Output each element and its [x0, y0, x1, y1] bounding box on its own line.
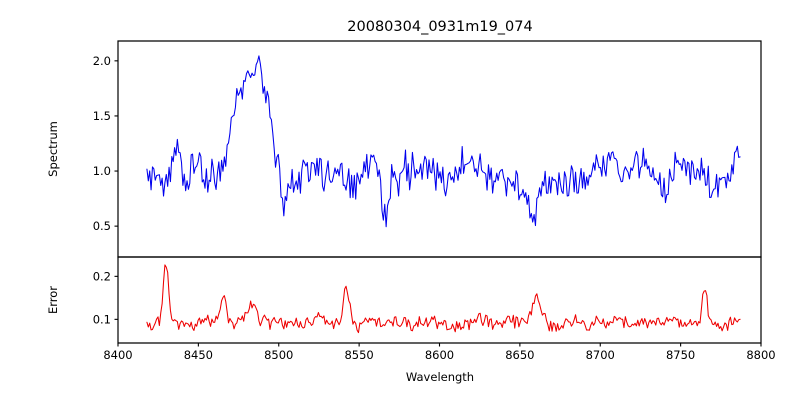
wavelength-tick-label: 8400 [103, 348, 132, 362]
wavelength-axis-label: Wavelength [406, 370, 474, 384]
spectrum-y-tick-label: 0.5 [93, 219, 111, 233]
spectrum-y-tick-label: 1.0 [93, 164, 111, 178]
wavelength-tick-label: 8600 [425, 348, 454, 362]
error-axis-label: Error [46, 286, 60, 314]
figure-background [0, 0, 800, 400]
wavelength-tick-label: 8550 [344, 348, 373, 362]
wavelength-tick-label: 8500 [264, 348, 293, 362]
figure-canvas: 20080304_0931m19_074 0.51.01.52.0 Spectr… [0, 0, 800, 400]
wavelength-tick-label: 8450 [184, 348, 213, 362]
wavelength-tick-label: 8750 [666, 348, 695, 362]
wavelength-tick-label: 8700 [586, 348, 615, 362]
page-title: 20080304_0931m19_074 [347, 19, 532, 35]
wavelength-tick-label: 8800 [746, 348, 775, 362]
spectrum-y-tick-label: 1.5 [93, 109, 111, 123]
spectrum-axis-label: Spectrum [46, 121, 60, 177]
wavelength-tick-label: 8650 [505, 348, 534, 362]
error-y-tick-label: 0.1 [93, 312, 111, 326]
spectrum-figure: 20080304_0931m19_074 0.51.01.52.0 Spectr… [0, 0, 800, 400]
spectrum-y-tick-label: 2.0 [93, 54, 111, 68]
error-y-tick-label: 0.2 [93, 269, 111, 283]
